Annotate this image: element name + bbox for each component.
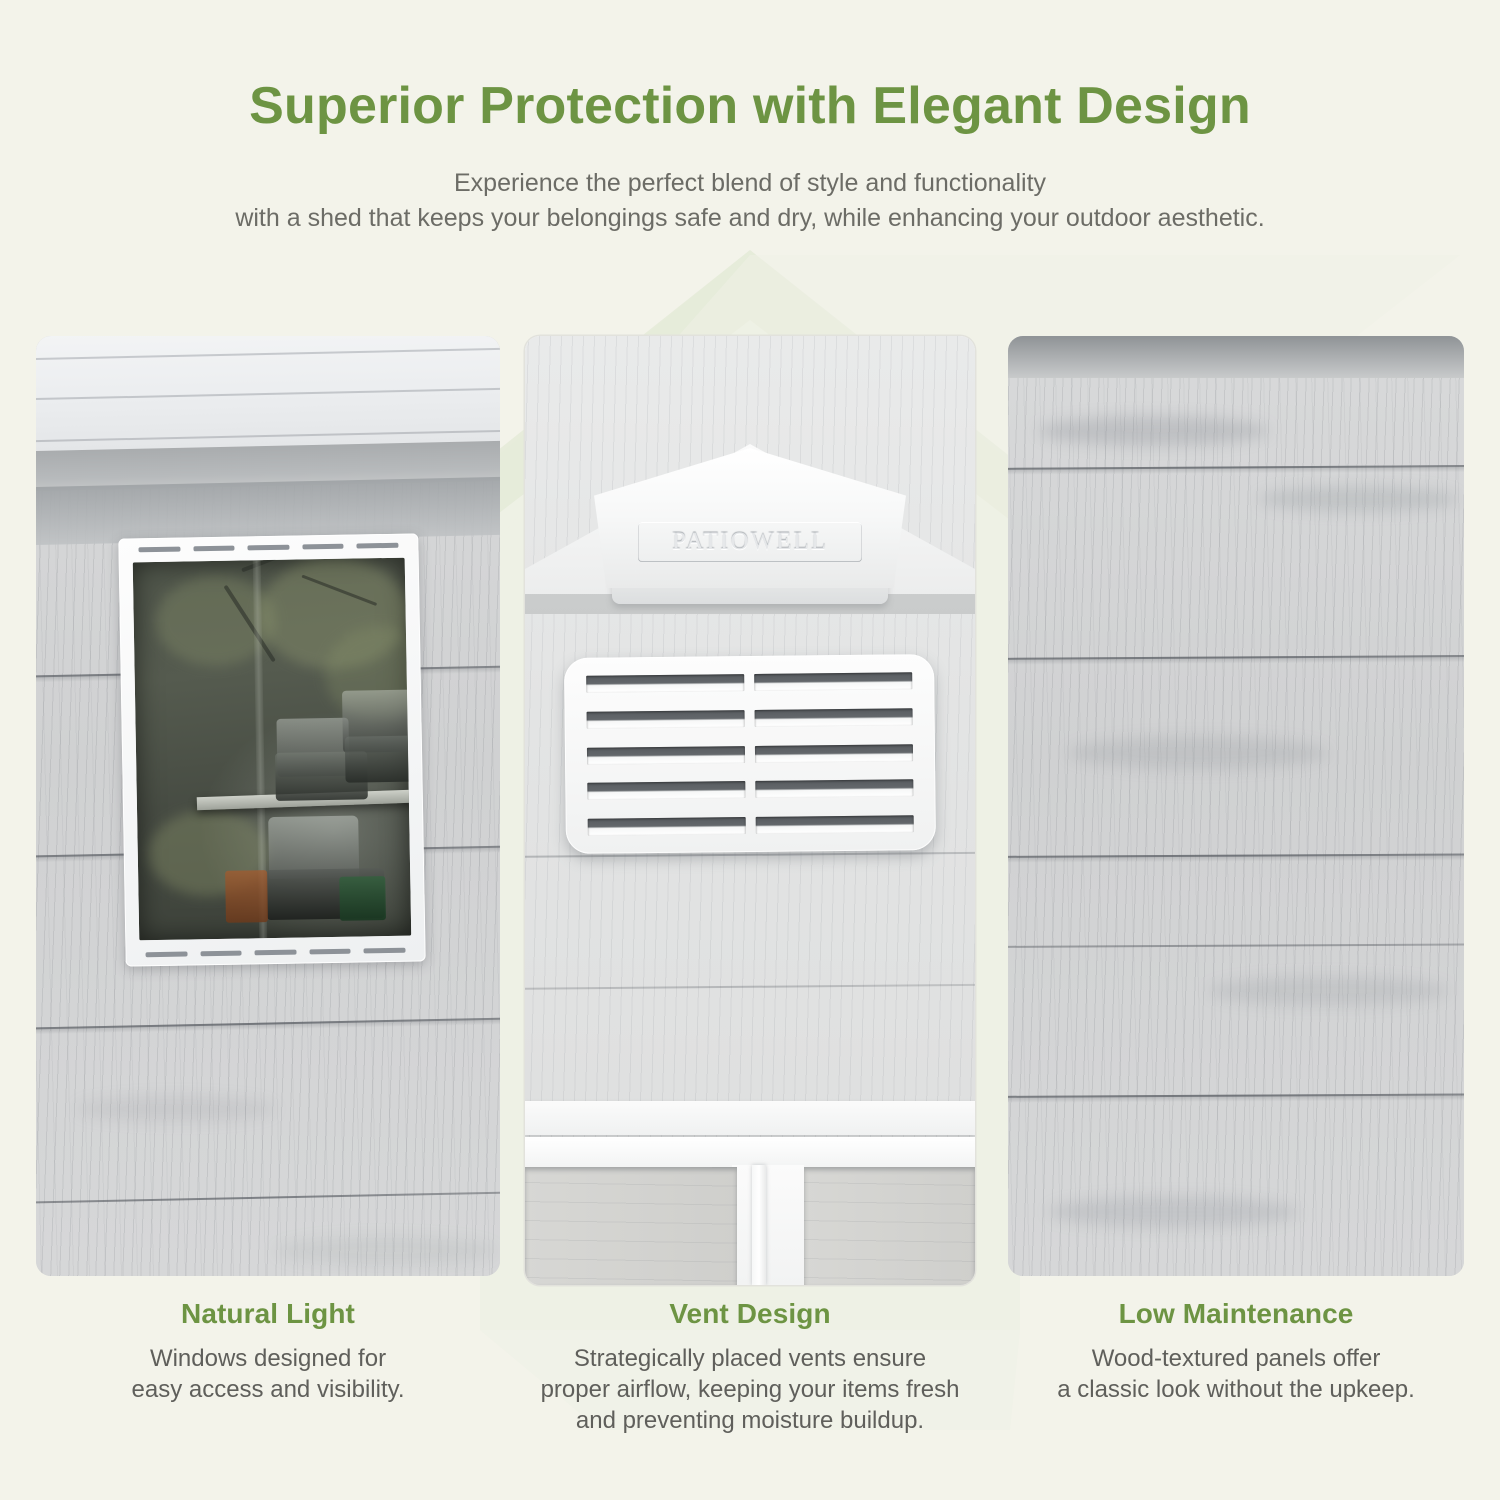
door-header-trim: [525, 1101, 975, 1135]
top-shadow-band: [1008, 336, 1464, 378]
grain-blotch: [1048, 1196, 1298, 1228]
door-leaf-right: [804, 1167, 975, 1285]
caption-title: Vent Design: [505, 1298, 995, 1330]
page-title: Superior Protection with Elegant Design: [0, 0, 1500, 134]
caption-line: proper airflow, keeping your items fresh: [505, 1374, 995, 1405]
caption-body: Strategically placed vents ensure proper…: [505, 1330, 995, 1437]
feature-image-natural-light[interactable]: [36, 336, 500, 1276]
grain-blotch: [1068, 736, 1328, 770]
louver-slat: [756, 815, 914, 834]
louver-column-right: [754, 672, 914, 834]
louver-slat: [755, 780, 913, 799]
roof-soffit: [36, 336, 500, 453]
wood-siding-texture: [1008, 336, 1464, 1276]
window-bottom-vent-slots: [146, 948, 406, 958]
door-center-panel: [732, 1165, 804, 1285]
wood-panel-photo: [1008, 336, 1464, 1276]
door-leaf-left: [525, 1167, 737, 1285]
louver-column-left: [586, 674, 746, 836]
door-center-stile: [752, 1165, 766, 1285]
louver-slat: [587, 710, 745, 729]
caption-title: Natural Light: [36, 1298, 500, 1330]
louver-slat: [588, 817, 746, 836]
caption-title: Low Maintenance: [1000, 1298, 1472, 1330]
caption-line: Windows designed for: [36, 1343, 500, 1374]
louver-vent[interactable]: [564, 654, 936, 854]
shed-vent-photo: PATIOWELL: [525, 336, 975, 1285]
grain-blotch: [276, 1236, 496, 1266]
window-top-vent-slots: [138, 543, 398, 553]
louver-slat: [587, 781, 745, 800]
marketing-feature-page: Superior Protection with Elegant Design …: [0, 0, 1500, 1500]
caption-line: and preventing moisture buildup.: [505, 1405, 995, 1436]
caption-line: easy access and visibility.: [36, 1374, 500, 1405]
feature-image-low-maintenance[interactable]: [1008, 336, 1464, 1276]
window-glass: [133, 558, 412, 941]
grain-blotch: [76, 1096, 276, 1122]
page-header: Superior Protection with Elegant Design …: [0, 0, 1500, 235]
caption-low-maintenance: Low Maintenance Wood-textured panels off…: [1000, 1298, 1472, 1405]
subtitle-line-2: with a shed that keeps your belongings s…: [0, 201, 1500, 236]
caption-body: Wood-textured panels offer a classic loo…: [1000, 1330, 1472, 1405]
louver-slat: [754, 672, 912, 691]
caption-natural-light: Natural Light Windows designed for easy …: [36, 1298, 500, 1405]
grain-blotch: [1258, 486, 1458, 512]
storage-item-green: [339, 876, 386, 921]
louver-slat: [755, 744, 913, 763]
caption-line: Strategically placed vents ensure: [505, 1343, 995, 1374]
page-subtitle: Experience the perfect blend of style an…: [0, 134, 1500, 235]
louver-grille: [586, 672, 914, 835]
caption-line: Wood-textured panels offer: [1000, 1343, 1472, 1374]
louver-slat: [586, 674, 744, 693]
shed-window[interactable]: [118, 533, 425, 966]
subtitle-line-1: Experience the perfect blend of style an…: [0, 166, 1500, 201]
grain-blotch: [1208, 976, 1448, 1006]
feature-image-vent-design[interactable]: PATIOWELL: [525, 336, 975, 1285]
brand-plate: PATIOWELL: [638, 522, 862, 562]
door-header-trim-lower: [525, 1137, 975, 1167]
grain-blotch: [1038, 416, 1268, 446]
storage-item-orange: [225, 870, 268, 923]
louver-slat: [587, 746, 745, 765]
brand-name: PATIOWELL: [672, 528, 828, 556]
shed-window-photo: [36, 336, 500, 1276]
storage-bin: [345, 735, 411, 782]
caption-line: a classic look without the upkeep.: [1000, 1374, 1472, 1405]
caption-body: Windows designed for easy access and vis…: [36, 1330, 500, 1405]
louver-slat: [755, 708, 913, 727]
caption-vent-design: Vent Design Strategically placed vents e…: [505, 1298, 995, 1437]
